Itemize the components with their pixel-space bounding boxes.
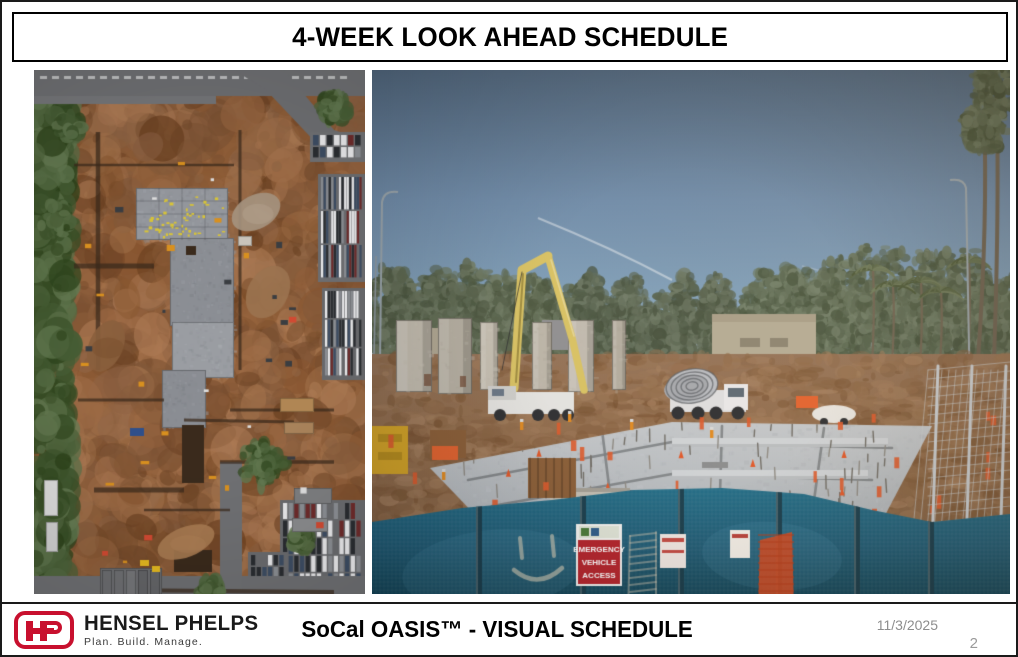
slide-footer: HENSEL PHELPS Plan. Build. Manage. SoCal… (2, 602, 1016, 655)
aerial-site-overview-photo (34, 70, 365, 594)
footer-project-title: SoCal OASIS™ - VISUAL SCHEDULE (302, 616, 693, 643)
footer-date: 11/3/2025 (877, 617, 938, 633)
photo-area (2, 70, 1016, 596)
ground-level-site-progress-photo (372, 70, 1010, 594)
presentation-slide: 4-WEEK LOOK AHEAD SCHEDULE HENSEL PHELPS… (0, 0, 1018, 657)
footer-page-number: 2 (970, 635, 978, 652)
company-logo: HENSEL PHELPS Plan. Build. Manage. (14, 611, 264, 649)
ground-level-site-progress-canvas (372, 70, 1010, 594)
page-title: 4-WEEK LOOK AHEAD SCHEDULE (292, 22, 728, 53)
slide-title-box: 4-WEEK LOOK AHEAD SCHEDULE (12, 12, 1008, 62)
company-logo-text: HENSEL PHELPS Plan. Build. Manage. (84, 613, 264, 648)
company-tagline: Plan. Build. Manage. (84, 637, 264, 648)
hensel-phelps-hp-monogram-icon (14, 611, 74, 649)
aerial-site-overview-canvas (34, 70, 365, 594)
company-name: HENSEL PHELPS (84, 613, 258, 634)
